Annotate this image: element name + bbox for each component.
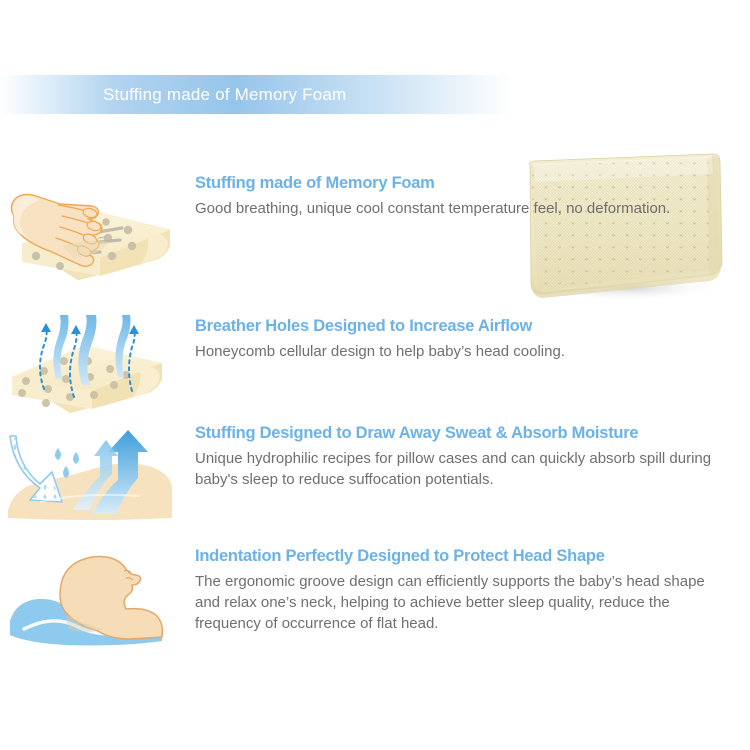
moisture-absorption-icon — [0, 422, 195, 527]
feature-row-absorb-moisture: Stuffing Designed to Draw Away Sweat & A… — [0, 422, 750, 527]
feature-heading: Breather Holes Designed to Increase Airf… — [195, 317, 750, 336]
feature-heading: Stuffing made of Memory Foam — [195, 174, 750, 193]
feature-body: Honeycomb cellular design to help baby’s… — [195, 341, 725, 362]
moisture-absorption-svg — [0, 422, 180, 527]
feature-row-memory-foam: Stuffing made of Memory Foam Good breath… — [0, 172, 750, 292]
feature-row-head-shape: Indentation Perfectly Designed to Protec… — [0, 545, 750, 650]
feature-heading: Stuffing Designed to Draw Away Sweat & A… — [195, 424, 750, 443]
feature-heading: Indentation Perfectly Designed to Protec… — [195, 547, 750, 566]
banner-title: Stuffing made of Memory Foam — [103, 85, 346, 105]
airflow-foam-svg — [0, 315, 180, 415]
baby-head-on-pillow-icon — [0, 545, 195, 650]
feature-body: Unique hydrophilic recipes for pillow ca… — [195, 448, 725, 490]
feature-text-absorb-moisture: Stuffing Designed to Draw Away Sweat & A… — [195, 422, 750, 527]
feature-text-breather-holes: Breather Holes Designed to Increase Airf… — [195, 315, 750, 415]
feature-text-memory-foam: Stuffing made of Memory Foam Good breath… — [195, 172, 750, 292]
hand-pressing-foam-icon — [0, 172, 195, 292]
hand-pressing-foam-svg — [0, 172, 180, 292]
feature-body: Good breathing, unique cool constant tem… — [195, 198, 725, 219]
feature-row-breather-holes: Breather Holes Designed to Increase Airf… — [0, 315, 750, 415]
header-banner: Stuffing made of Memory Foam — [0, 75, 512, 114]
baby-head-pillow-svg — [0, 545, 180, 650]
feature-body: The ergonomic groove design can efficien… — [195, 571, 725, 634]
feature-text-head-shape: Indentation Perfectly Designed to Protec… — [195, 545, 750, 650]
airflow-through-foam-icon — [0, 315, 195, 415]
